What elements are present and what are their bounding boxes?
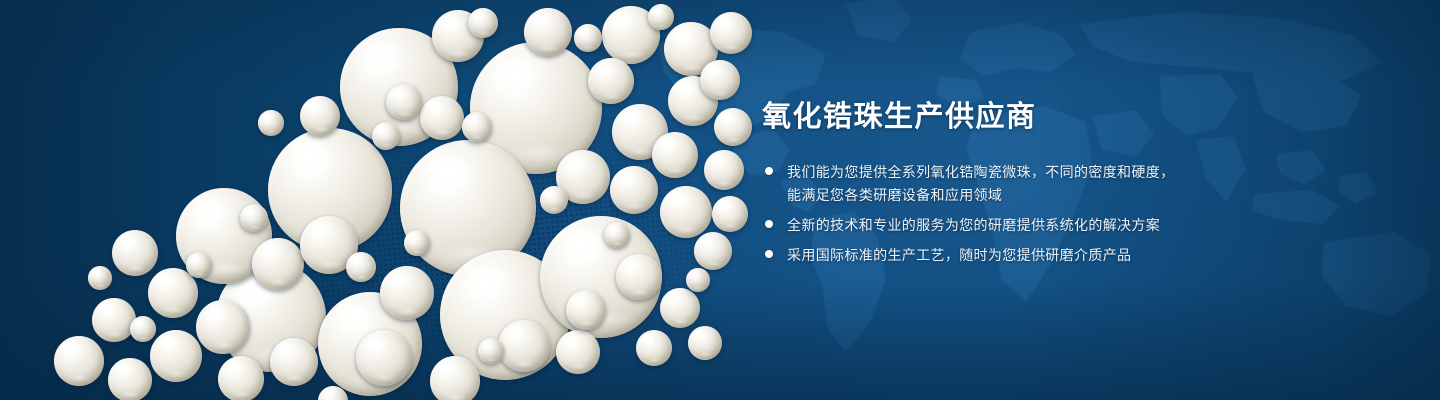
banner-content: 氧化锆珠生产供应商 我们能为您提供全系列氧化锆陶瓷微珠，不同的密度和硬度， 能满… xyxy=(762,100,1322,274)
list-item: 我们能为您提供全系列氧化锆陶瓷微珠，不同的密度和硬度， 能满足您各类研磨设备和应… xyxy=(762,161,1322,207)
bullet-dot-icon xyxy=(765,167,773,175)
feature-line-1: 采用国际标准的生产工艺，随时为您提供研磨介质产品 xyxy=(787,247,1131,263)
page-title: 氧化锆珠生产供应商 xyxy=(762,100,1322,135)
feature-line-1: 我们能为您提供全系列氧化锆陶瓷微珠，不同的密度和硬度， xyxy=(787,164,1174,180)
zirconia-beads-image xyxy=(0,0,760,400)
feature-text: 采用国际标准的生产工艺，随时为您提供研磨介质产品 xyxy=(787,244,1131,267)
feature-text: 我们能为您提供全系列氧化锆陶瓷微珠，不同的密度和硬度， 能满足您各类研磨设备和应… xyxy=(787,161,1174,207)
promo-banner: 氧化锆珠生产供应商 我们能为您提供全系列氧化锆陶瓷微珠，不同的密度和硬度， 能满… xyxy=(0,0,1440,400)
feature-list: 我们能为您提供全系列氧化锆陶瓷微珠，不同的密度和硬度， 能满足您各类研磨设备和应… xyxy=(762,161,1322,267)
feature-line-2: 能满足您各类研磨设备和应用领域 xyxy=(787,184,1174,207)
list-item: 采用国际标准的生产工艺，随时为您提供研磨介质产品 xyxy=(762,244,1322,267)
bullet-dot-icon xyxy=(765,250,773,258)
bullet-dot-icon xyxy=(765,220,773,228)
list-item: 全新的技术和专业的服务为您的研磨提供系统化的解决方案 xyxy=(762,214,1322,237)
feature-line-1: 全新的技术和专业的服务为您的研磨提供系统化的解决方案 xyxy=(787,217,1160,233)
feature-text: 全新的技术和专业的服务为您的研磨提供系统化的解决方案 xyxy=(787,214,1160,237)
